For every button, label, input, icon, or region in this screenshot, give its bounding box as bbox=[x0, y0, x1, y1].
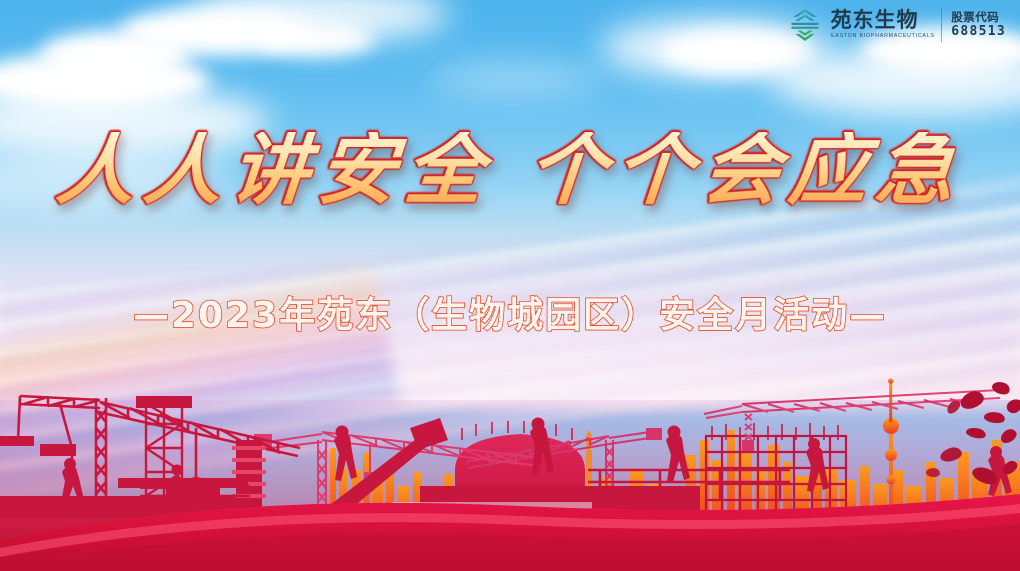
stock-info: 股票代码 688513 bbox=[951, 11, 1006, 40]
page-title: 人人讲安全 个个会应急 bbox=[0, 132, 1020, 210]
page-subtitle: —2023年苑东（生物城园区）安全月活动— bbox=[0, 286, 1020, 338]
logo-divider bbox=[941, 8, 942, 42]
scaffold-tower-cap bbox=[136, 396, 192, 408]
easton-leaf-logo-icon bbox=[788, 7, 822, 43]
stock-code: 688513 bbox=[951, 24, 1006, 39]
stock-label: 股票代码 bbox=[951, 11, 1006, 25]
crane-arm-left bbox=[0, 436, 34, 446]
crane-hook-block-right bbox=[742, 440, 754, 451]
tower-crane-right bbox=[704, 390, 1000, 448]
crane-boom-weight bbox=[40, 444, 76, 456]
crane-counterweight-mid bbox=[646, 428, 662, 440]
brand-name-cn: 苑东生物 bbox=[831, 10, 933, 31]
brand-name-en: EASTON BIOPHARMACEUTICALS bbox=[831, 34, 935, 39]
carried-rod bbox=[140, 486, 204, 489]
safety-month-banner: 苑东生物 EASTON BIOPHARMACEUTICALS 股票代码 6885… bbox=[0, 0, 1020, 571]
brand-name-block: 苑东生物 EASTON BIOPHARMACEUTICALS bbox=[831, 10, 933, 39]
brand-logo-block: 苑东生物 EASTON BIOPHARMACEUTICALS 股票代码 6885… bbox=[788, 7, 1006, 43]
page-title-text: 人人讲安全 个个会应急 bbox=[54, 132, 967, 210]
